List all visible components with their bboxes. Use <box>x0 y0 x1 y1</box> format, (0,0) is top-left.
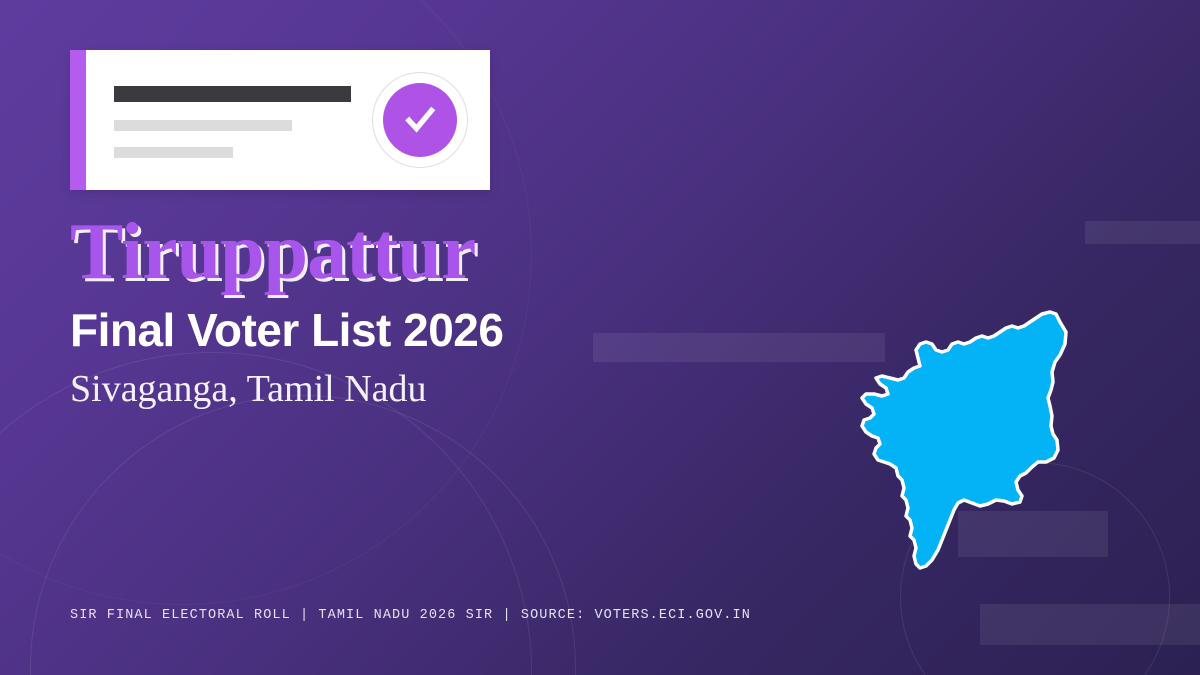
poster-canvas: Tiruppattur Final Voter List 2026 Sivaga… <box>0 0 1200 675</box>
tamil-nadu-state-map <box>860 310 1080 580</box>
decorative-rectangle-bottom-right <box>980 604 1200 645</box>
page-title: Final Voter List 2026 <box>70 306 710 354</box>
decorative-circle-inner-left <box>30 395 576 675</box>
footer-source-line: SIR FINAL ELECTORAL ROLL | TAMIL NADU 20… <box>70 608 751 623</box>
card-text-placeholder-line-2 <box>114 147 233 158</box>
district-name: Tiruppattur <box>70 212 710 292</box>
verified-badge <box>372 72 468 168</box>
region-subtitle: Sivaganga, Tamil Nadu <box>70 370 710 410</box>
card-text-placeholder-line-1 <box>114 120 292 131</box>
card-body <box>86 50 490 190</box>
card-accent-bar <box>70 50 86 190</box>
decorative-rectangle-top-right <box>1085 221 1200 244</box>
document-card <box>70 50 490 190</box>
headline-block: Tiruppattur Final Voter List 2026 Sivaga… <box>70 212 710 410</box>
card-title-placeholder-bar <box>114 86 351 102</box>
check-circle-icon <box>383 83 457 157</box>
